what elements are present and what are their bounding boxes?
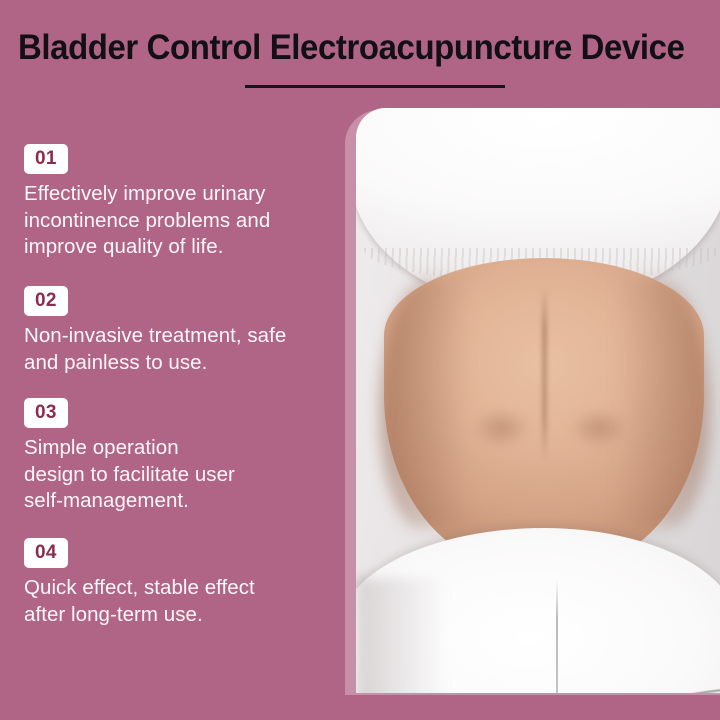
product-photo: Meat Massage Acidheas Expan Stronght Scr… [356,108,720,693]
feature-text: Quick effect, stable effect after long-t… [24,575,340,628]
photo-back-dimple-left [472,408,530,448]
feature-number-badge: 02 [24,286,68,316]
feature-text: Effectively improve urinary incontinence… [24,181,340,261]
feature-text: Non-invasive treatment, safe and painles… [24,323,340,376]
feature-number-badge: 04 [24,538,68,568]
feature-item-02: 02 Non-invasive treatment, safe and pain… [24,286,340,376]
feature-item-01: 01 Effectively improve urinary incontine… [24,144,340,261]
title-underline-rule [245,85,505,88]
feature-item-03: 03 Simple operation design to facilitate… [24,398,340,515]
poster-root: Bladder Control Electroacupuncture Devic… [0,0,720,720]
feature-text: Simple operation design to facilitate us… [24,435,340,515]
feature-number-badge: 01 [24,144,68,174]
page-title: Bladder Control Electroacupuncture Devic… [18,26,685,70]
photo-back-dimple-right [570,408,628,448]
photo-pants-seam [556,580,558,693]
photo-pants-shadow-left [356,578,446,693]
feature-item-04: 04 Quick effect, stable effect after lon… [24,538,340,628]
photo-spine-line [542,286,547,462]
feature-number-badge: 03 [24,398,68,428]
